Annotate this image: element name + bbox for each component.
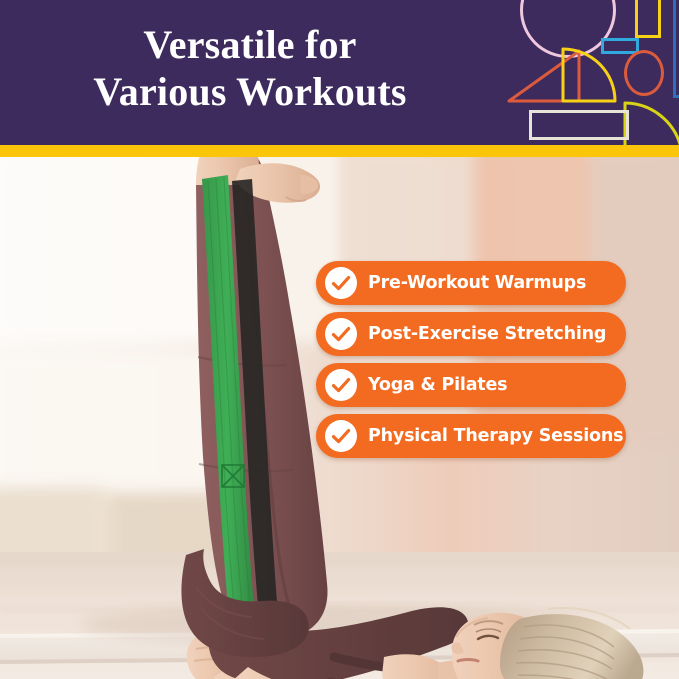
feature-badge-label: Pre-Workout Warmups [368,273,586,293]
page-title: Versatile for Various Workouts [0,22,500,116]
header-banner: Versatile for Various Workouts [0,0,679,145]
product-feature-poster: Versatile for Various Workouts [0,0,679,679]
check-circle-icon [323,265,359,301]
feature-badge-label: Post-Exercise Stretching [368,324,606,344]
feature-badge[interactable]: Yoga & Pilates [316,363,626,407]
rectangle-outline-cream-icon [529,110,629,140]
feature-badge-label: Yoga & Pilates [368,375,507,395]
feature-badge-label: Physical Therapy Sessions [368,426,623,446]
check-circle-icon [323,316,359,352]
quarter-circle-outline-olive-icon [622,100,679,145]
feature-badge[interactable]: Post-Exercise Stretching [316,312,626,356]
quarter-circle-outline-yellow-icon [560,46,620,109]
accent-divider-bar [0,145,679,157]
rectangle-outline-yellow-icon [635,0,661,38]
rectangle-outline-blue-icon [673,0,679,98]
feature-badge[interactable]: Pre-Workout Warmups [316,261,626,305]
feature-badge-list: Pre-Workout Warmups Post-Exercise Stretc… [316,261,626,458]
feature-badge[interactable]: Physical Therapy Sessions [316,414,626,458]
check-circle-icon [323,367,359,403]
check-circle-icon [323,418,359,454]
circle-outline-red-icon [624,50,664,96]
